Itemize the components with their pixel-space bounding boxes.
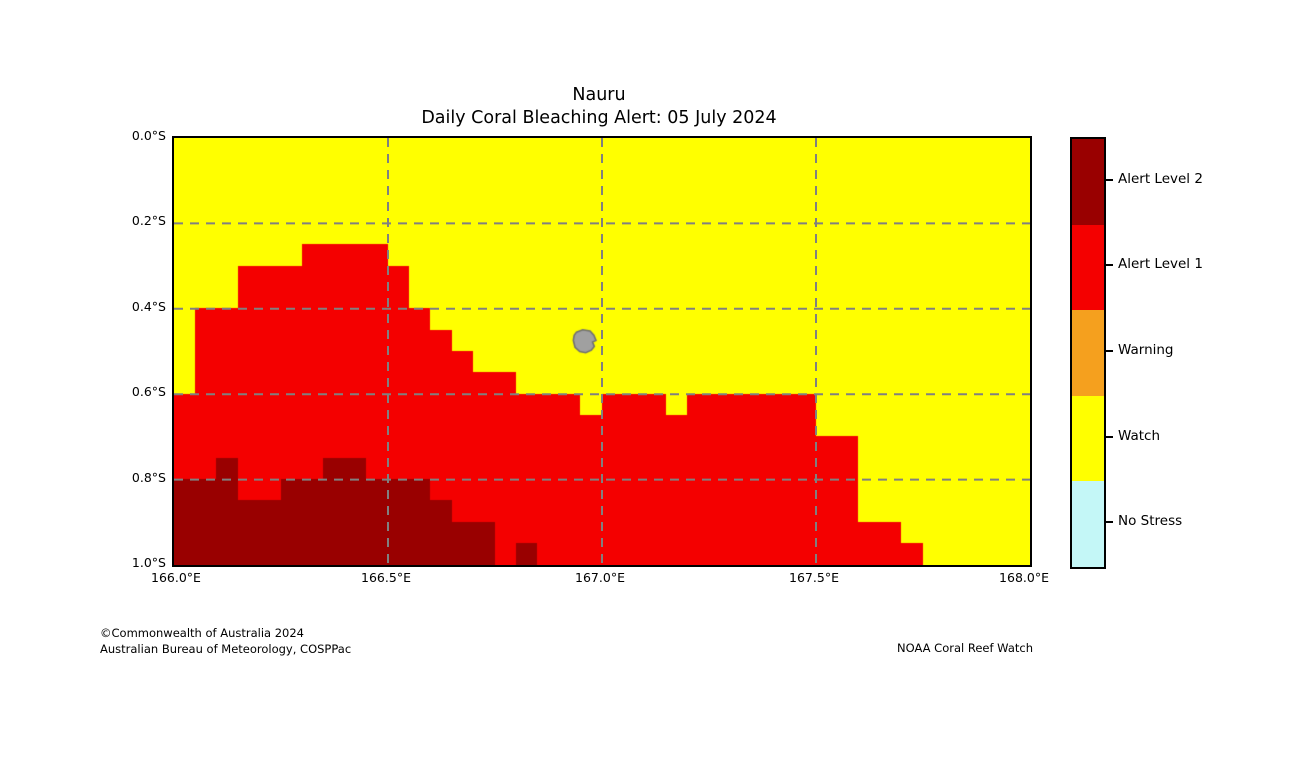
x-axis-ticks: 166.0°E166.5°E167.0°E167.5°E168.0°E (172, 570, 1028, 590)
chart-subtitle: Daily Coral Bleaching Alert: 05 July 202… (0, 107, 1198, 130)
legend-label-text: No Stress (1118, 513, 1182, 529)
agency-line: Australian Bureau of Meteorology, COSPPa… (100, 642, 351, 658)
legend-label-text: Warning (1118, 342, 1174, 358)
y-tick-text: 0.0°S (132, 128, 166, 143)
legend-colorbar[interactable] (1070, 137, 1106, 569)
x-axis-tick-label: 166.0°E (151, 570, 201, 585)
legend-swatch-no-stress[interactable] (1072, 481, 1104, 567)
y-tick-text: 1.0°S (132, 555, 166, 570)
y-tick-text: 0.6°S (132, 384, 166, 399)
legend-label-text: Alert Level 1 (1118, 256, 1203, 272)
x-axis-tick-label: 167.5°E (789, 570, 839, 585)
map-plot-area[interactable] (172, 136, 1032, 567)
y-tick-text: 0.8°S (132, 470, 166, 485)
legend-swatch-alert-level-1[interactable] (1072, 225, 1104, 312)
y-tick-text: 0.2°S (132, 213, 166, 228)
legend-swatch-warning[interactable] (1072, 310, 1104, 397)
legend-swatch-watch[interactable] (1072, 396, 1104, 483)
legend-labels: Alert Level 2Alert Level 1WarningWatchNo… (1104, 137, 1284, 565)
y-axis-ticks: 0.0°S0.2°S0.4°S0.6°S0.8°S1.0°S (60, 136, 166, 563)
y-tick-text: 0.4°S (132, 299, 166, 314)
legend-label-text: Watch (1118, 428, 1160, 444)
legend-tick-mark (1104, 350, 1113, 352)
page-title: Nauru (0, 84, 1198, 107)
x-axis-tick-label: 167.0°E (575, 570, 625, 585)
legend-swatch-alert-level-2[interactable] (1072, 139, 1104, 226)
legend-tick-mark (1104, 521, 1113, 523)
coral-alert-heatmap (174, 138, 1030, 565)
copyright-line: ©Commonwealth of Australia 2024 (100, 626, 351, 642)
legend-tick-mark (1104, 179, 1113, 181)
footer-attribution-left: ©Commonwealth of Australia 2024 Australi… (100, 626, 351, 657)
legend-label-text: Alert Level 2 (1118, 171, 1203, 187)
chart-title-block: Nauru Daily Coral Bleaching Alert: 05 Ju… (0, 84, 1198, 130)
legend-tick-mark (1104, 264, 1113, 266)
legend-tick-mark (1104, 436, 1113, 438)
footer-attribution-right: NOAA Coral Reef Watch (897, 641, 1033, 657)
x-axis-tick-label: 168.0°E (999, 570, 1049, 585)
noaa-credit: NOAA Coral Reef Watch (897, 641, 1033, 657)
x-axis-tick-label: 166.5°E (361, 570, 411, 585)
